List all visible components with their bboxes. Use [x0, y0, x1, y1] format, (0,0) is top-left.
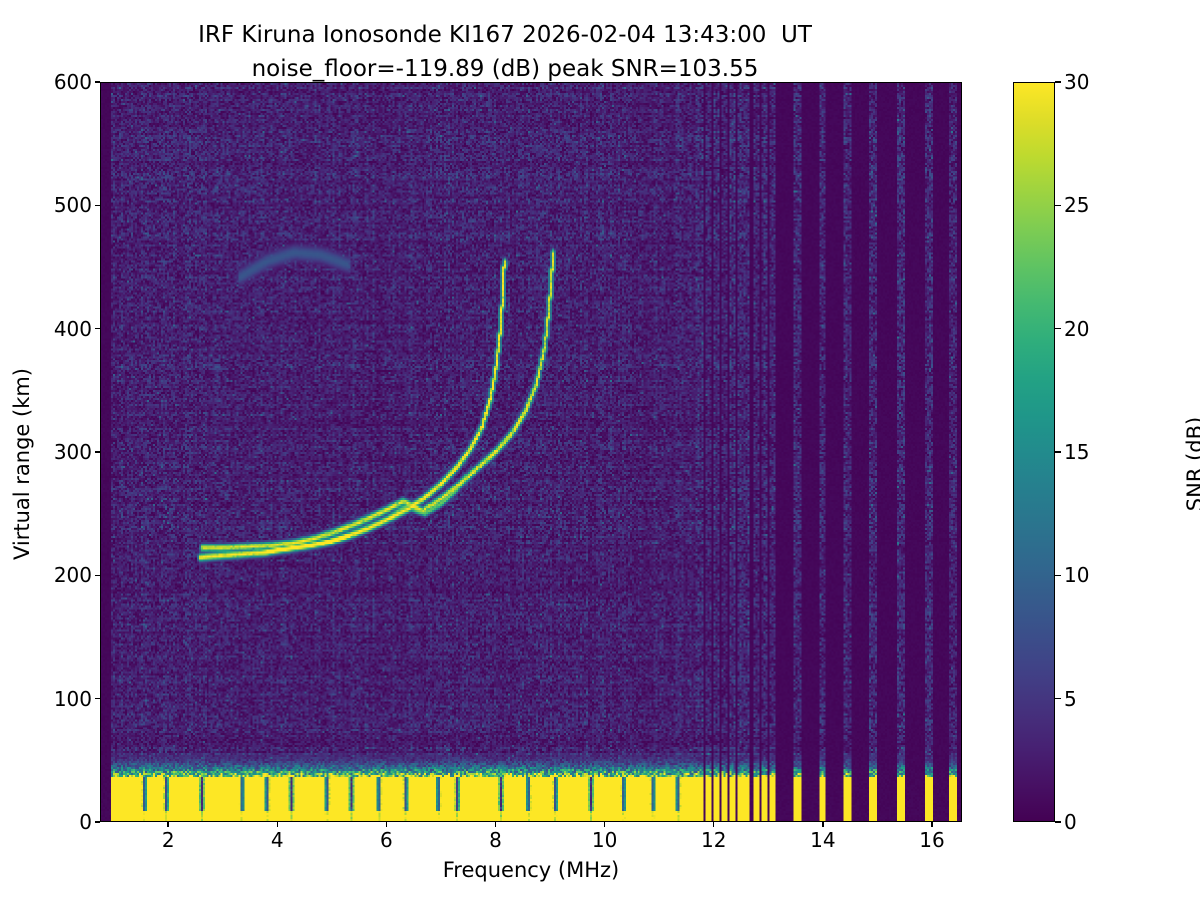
heatmap-canvas-holder — [101, 83, 961, 821]
x-tick-mark — [495, 822, 496, 828]
y-tick-mark — [95, 328, 101, 329]
x-tick-mark — [713, 822, 714, 828]
y-tick-mark — [95, 821, 101, 822]
x-tick-label: 4 — [271, 828, 284, 852]
x-tick-label: 14 — [810, 828, 835, 852]
colorbar-tick-mark — [1055, 451, 1061, 452]
x-tick-mark — [167, 822, 168, 828]
y-axis-title: Virtual range (km) — [10, 94, 34, 834]
colorbar-gradient — [1014, 83, 1054, 821]
y-tick-mark — [95, 205, 101, 206]
colorbar-tick-label: 20 — [1064, 317, 1089, 341]
title-line-2: noise_floor=-119.89 (dB) peak SNR=103.55 — [0, 52, 1010, 86]
colorbar-title: SNR (dB) — [1183, 94, 1200, 834]
y-tick-mark — [95, 451, 101, 452]
colorbar-tick-mark — [1055, 328, 1061, 329]
x-tick-mark — [931, 822, 932, 828]
y-tick-label: 500 — [54, 193, 92, 217]
figure-title: IRF Kiruna Ionosonde KI167 2026-02-04 13… — [0, 18, 1010, 86]
x-tick-labels: 246810121416 — [100, 828, 962, 858]
colorbar-tick-label: 5 — [1064, 687, 1077, 711]
colorbar-tick-mark — [1055, 205, 1061, 206]
y-tick-label: 400 — [54, 317, 92, 341]
colorbar-tick-mark — [1055, 821, 1061, 822]
colorbar-tick-label: 0 — [1064, 810, 1077, 834]
colorbar-ticks: 051015202530 — [1055, 82, 1115, 822]
y-tick-mark — [95, 575, 101, 576]
x-tick-mark — [277, 822, 278, 828]
colorbar-tick-label: 25 — [1064, 193, 1089, 217]
ionogram-plot-area — [100, 82, 962, 822]
colorbar — [1013, 82, 1055, 822]
x-tick-mark — [822, 822, 823, 828]
colorbar-tick-label: 10 — [1064, 563, 1089, 587]
title-line-1: IRF Kiruna Ionosonde KI167 2026-02-04 13… — [0, 18, 1010, 52]
colorbar-tick-label: 15 — [1064, 440, 1089, 464]
y-tick-label: 600 — [54, 70, 92, 94]
x-tick-mark — [604, 822, 605, 828]
y-tick-label: 0 — [79, 810, 92, 834]
x-tick-label: 8 — [489, 828, 502, 852]
ionogram-figure: IRF Kiruna Ionosonde KI167 2026-02-04 13… — [0, 0, 1200, 900]
ionogram-heatmap — [101, 83, 961, 821]
y-tick-mark — [95, 81, 101, 82]
x-tick-label: 2 — [162, 828, 175, 852]
x-axis-title: Frequency (MHz) — [100, 858, 962, 882]
x-tick-mark — [386, 822, 387, 828]
y-tick-mark — [95, 698, 101, 699]
colorbar-tick-mark — [1055, 81, 1061, 82]
x-tick-label: 6 — [380, 828, 393, 852]
y-tick-label: 300 — [54, 440, 92, 464]
x-tick-label: 10 — [592, 828, 617, 852]
colorbar-tick-mark — [1055, 575, 1061, 576]
y-tick-label: 200 — [54, 563, 92, 587]
x-tick-label: 16 — [919, 828, 944, 852]
x-tick-label: 12 — [701, 828, 726, 852]
colorbar-tick-mark — [1055, 698, 1061, 699]
y-tick-label: 100 — [54, 687, 92, 711]
colorbar-tick-label: 30 — [1064, 70, 1089, 94]
